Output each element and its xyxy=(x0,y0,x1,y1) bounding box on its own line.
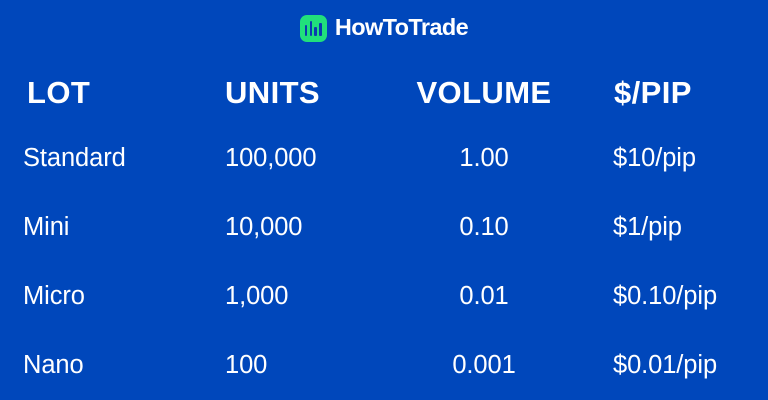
table-header-row: LOT UNITS VOLUME $/PIP xyxy=(0,62,768,124)
cell-units: 10,000 xyxy=(198,193,370,262)
table-header: LOT UNITS VOLUME $/PIP xyxy=(0,62,768,124)
table-body: Standard 100,000 1.00 $10/pip Mini 10,00… xyxy=(0,124,768,400)
cell-pip: $1/pip xyxy=(598,193,768,262)
cell-volume: 0.10 xyxy=(370,193,598,262)
cell-pip: $0.10/pip xyxy=(598,262,768,331)
cell-pip: $10/pip xyxy=(598,124,768,193)
table-row: Mini 10,000 0.10 $1/pip xyxy=(0,193,768,262)
table-row: Micro 1,000 0.01 $0.10/pip xyxy=(0,262,768,331)
lot-size-table: LOT UNITS VOLUME $/PIP Standard 100,000 … xyxy=(0,62,768,400)
cell-lot: Nano xyxy=(0,331,198,400)
cell-pip: $0.01/pip xyxy=(598,331,768,400)
brand-name: HowToTrade xyxy=(335,16,468,40)
column-header-volume: VOLUME xyxy=(370,62,598,124)
cell-lot: Micro xyxy=(0,262,198,331)
cell-units: 1,000 xyxy=(198,262,370,331)
logo-bars xyxy=(305,21,322,36)
cell-units: 100 xyxy=(198,331,370,400)
logo-bar-4 xyxy=(319,23,322,36)
cell-volume: 0.001 xyxy=(370,331,598,400)
logo-bar-3 xyxy=(314,27,317,36)
cell-volume: 1.00 xyxy=(370,124,598,193)
candlestick-chart-icon xyxy=(300,15,327,42)
column-header-units: UNITS xyxy=(198,62,370,124)
cell-volume: 0.01 xyxy=(370,262,598,331)
cell-lot: Mini xyxy=(0,193,198,262)
table-row: Standard 100,000 1.00 $10/pip xyxy=(0,124,768,193)
column-header-lot: LOT xyxy=(0,62,198,124)
cell-units: 100,000 xyxy=(198,124,370,193)
table-row: Nano 100 0.001 $0.01/pip xyxy=(0,331,768,400)
column-header-pip: $/PIP xyxy=(598,62,768,124)
logo-bar-2 xyxy=(310,21,313,36)
logo-bar-1 xyxy=(305,25,308,36)
brand-header: HowToTrade xyxy=(0,13,768,43)
cell-lot: Standard xyxy=(0,124,198,193)
